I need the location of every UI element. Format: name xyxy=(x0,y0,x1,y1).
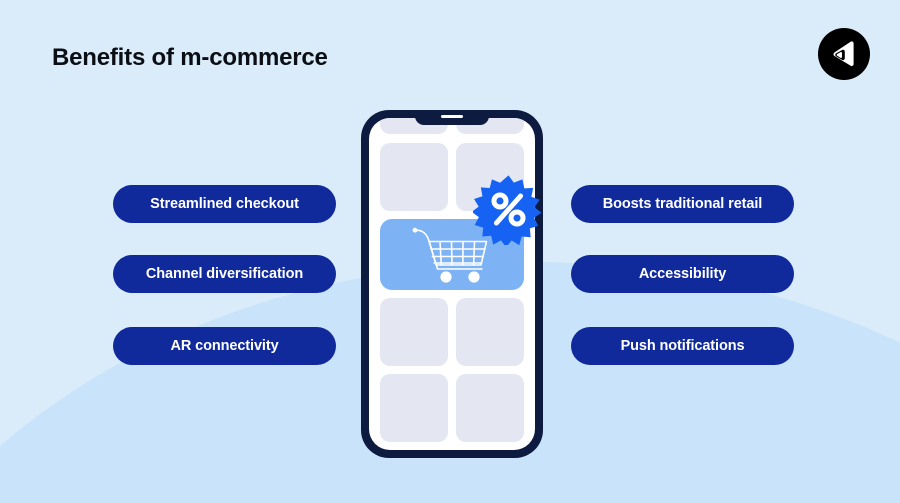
app-tile xyxy=(380,298,448,366)
discount-starburst-icon xyxy=(473,174,544,245)
cart-wheel-icon xyxy=(468,271,479,282)
benefit-pill-label: AR connectivity xyxy=(170,338,278,354)
app-tile xyxy=(380,374,448,442)
cart-handle-dot-icon xyxy=(413,227,418,232)
benefit-pill-channel-diversification[interactable]: Channel diversification xyxy=(113,255,336,293)
phone-speaker-slit xyxy=(441,115,463,118)
benefit-pill-label: Boosts traditional retail xyxy=(603,196,762,212)
phone-screen xyxy=(369,118,535,450)
app-tile xyxy=(380,143,448,211)
page-title: Benefits of m-commerce xyxy=(52,44,328,72)
smartphone-illustration xyxy=(361,110,543,458)
benefit-pill-streamlined-checkout[interactable]: Streamlined checkout xyxy=(113,185,336,223)
benefit-pill-boosts-traditional-retail[interactable]: Boosts traditional retail xyxy=(571,185,794,223)
brand-logo-mark-icon xyxy=(818,28,870,80)
app-tile xyxy=(456,298,524,366)
benefit-pill-label: Channel diversification xyxy=(146,266,303,282)
discount-badge xyxy=(473,174,544,245)
infographic-canvas: Benefits of m-commerce Streamlined check… xyxy=(0,0,900,503)
benefit-pill-push-notifications[interactable]: Push notifications xyxy=(571,327,794,365)
benefit-pill-ar-connectivity[interactable]: AR connectivity xyxy=(113,327,336,365)
phone-notch xyxy=(415,110,489,125)
benefit-pill-accessibility[interactable]: Accessibility xyxy=(571,255,794,293)
benefit-pill-label: Accessibility xyxy=(639,266,726,282)
app-tile xyxy=(456,374,524,442)
brand-logo xyxy=(818,28,870,80)
cart-wheel-icon xyxy=(440,271,451,282)
benefit-pill-label: Push notifications xyxy=(621,338,745,354)
benefit-pill-label: Streamlined checkout xyxy=(150,196,299,212)
